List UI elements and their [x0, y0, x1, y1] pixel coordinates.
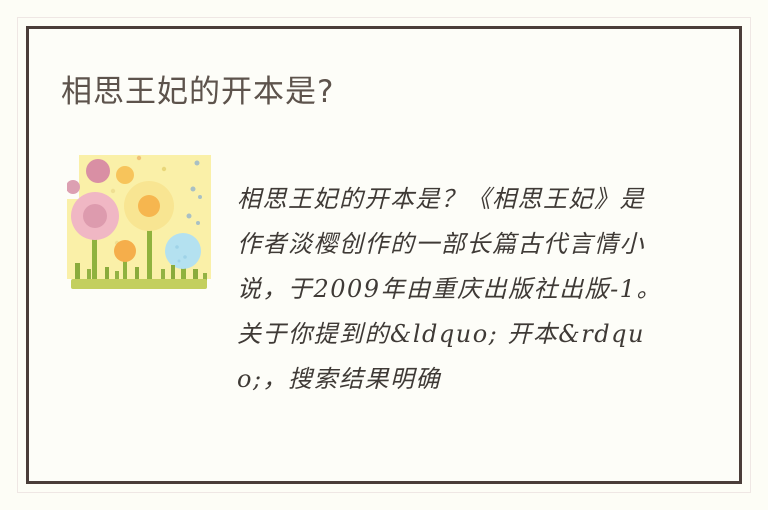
orange-flower-bottom — [114, 240, 136, 262]
article-body: 相思王妃的开本是？《相思王妃》是作者淡樱创作的一部长篇古代言情小说，于2009年… — [237, 177, 669, 402]
page-root: 相思王妃的开本是? — [0, 0, 768, 510]
pink-flower-small-top — [86, 159, 110, 183]
orange-flower-top — [116, 166, 134, 184]
flower-garden-illustration — [67, 151, 211, 303]
blue-flower — [165, 233, 201, 269]
pink-flower-large-center — [83, 204, 107, 228]
yellow-flower-large-center — [138, 195, 160, 217]
flower-garden-icon — [67, 151, 211, 303]
article-content: 相思王妃的开本是？《相思王妃》是作者淡樱创作的一部长篇古代言情小说，于2009年… — [29, 29, 739, 481]
content-frame: 相思王妃的开本是? — [26, 26, 742, 484]
thumb-ground — [71, 279, 207, 289]
